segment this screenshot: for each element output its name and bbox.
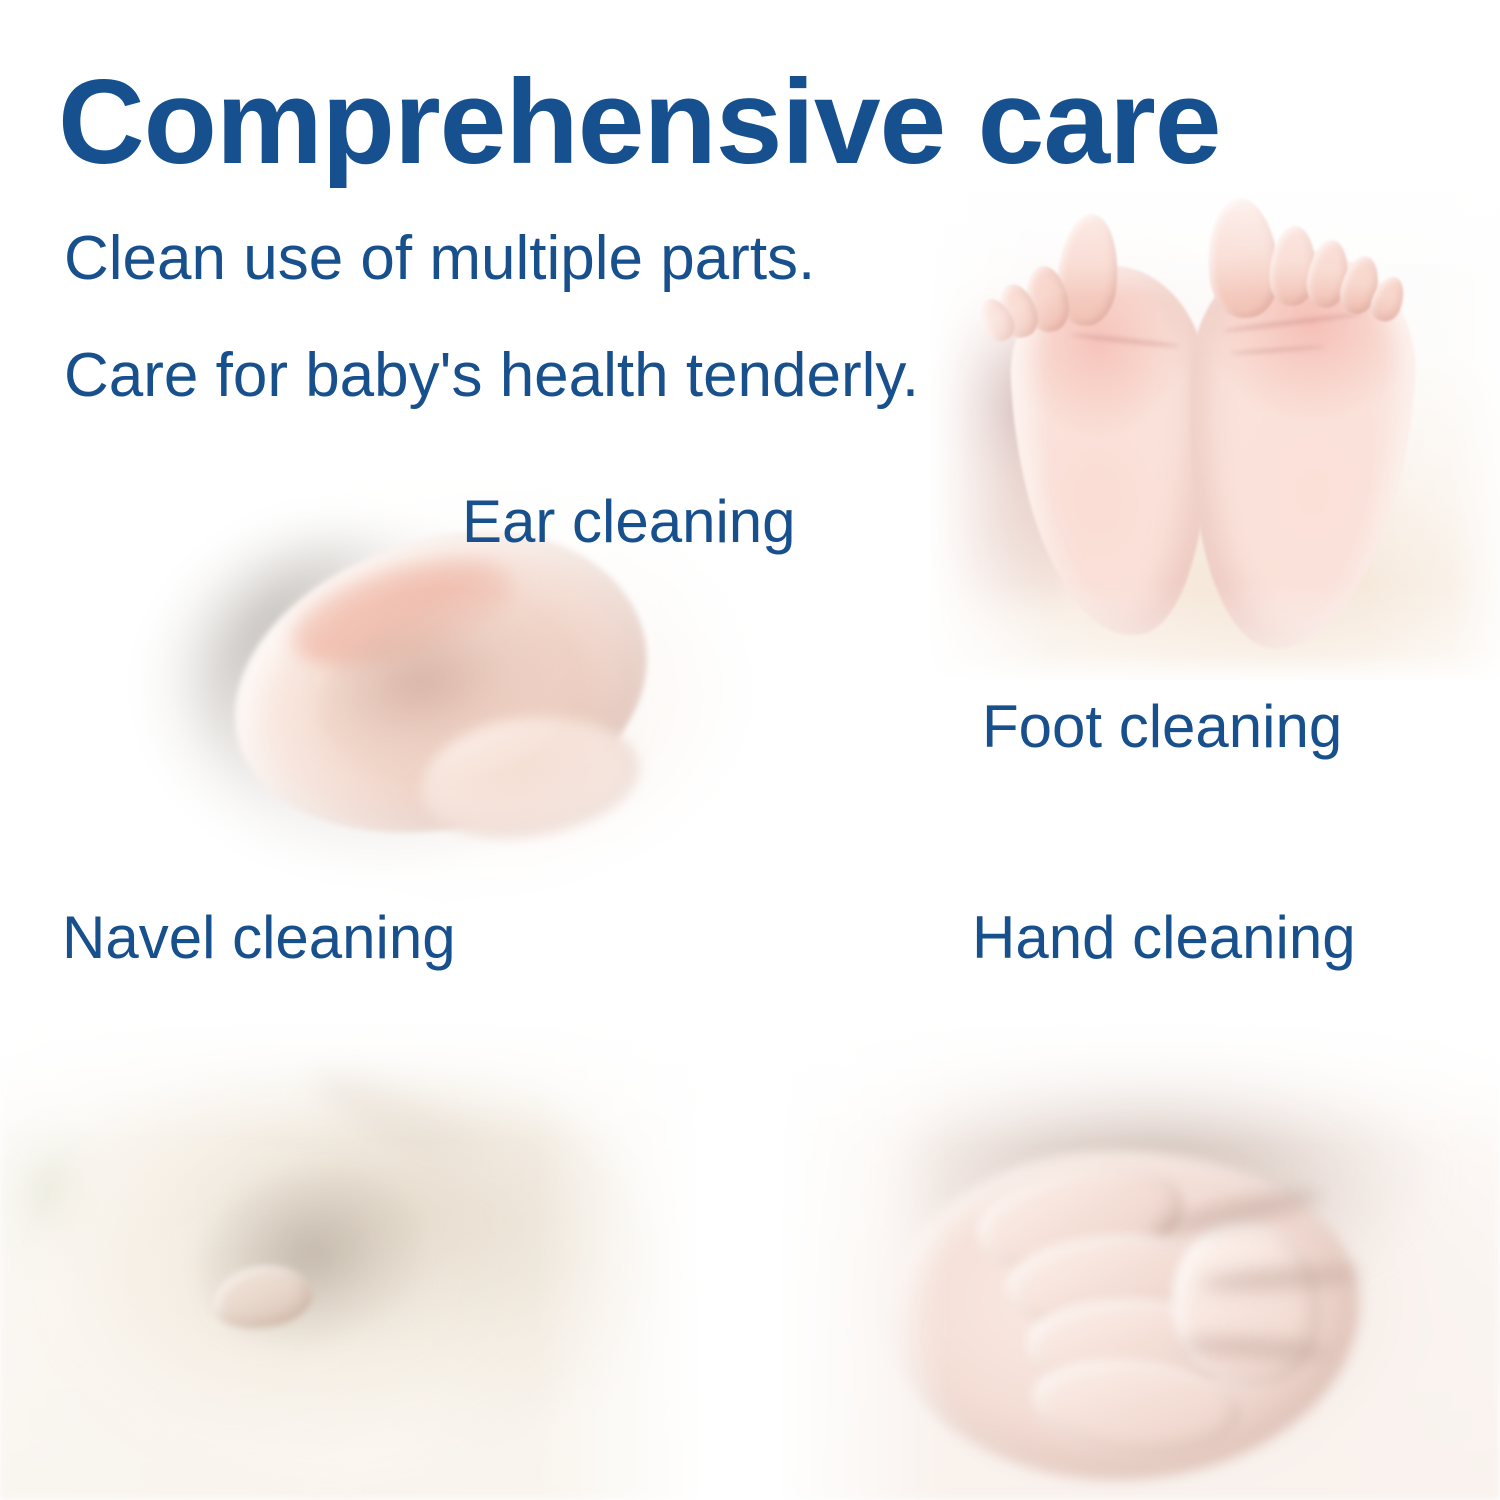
caption-ear-cleaning: Ear cleaning <box>462 492 796 552</box>
product-feature-banner: Comprehensive care Clean use of multiple… <box>0 0 1500 1500</box>
subtitle-line-1: Clean use of multiple parts. <box>64 228 815 290</box>
caption-hand-cleaning: Hand cleaning <box>972 908 1356 968</box>
baby-navel-photo <box>0 1020 700 1500</box>
page-title: Comprehensive care <box>58 62 1221 182</box>
baby-feet-photo <box>930 180 1500 680</box>
baby-hand-photo <box>780 1020 1500 1500</box>
caption-foot-cleaning: Foot cleaning <box>982 697 1342 757</box>
caption-navel-cleaning: Navel cleaning <box>62 908 456 968</box>
subtitle-line-2: Care for baby's health tenderly. <box>64 345 919 407</box>
